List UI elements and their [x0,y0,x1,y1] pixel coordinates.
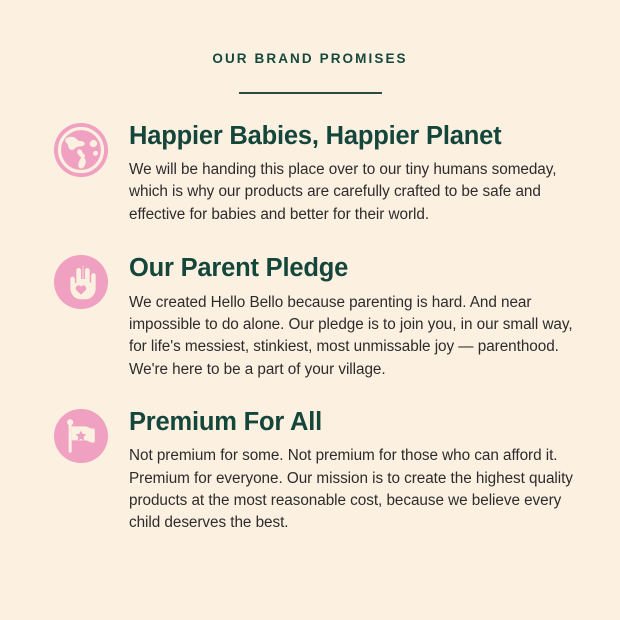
promise-text: We created Hello Bello because parenting… [129,292,584,381]
promise-text: We will be handing this place over to ou… [129,159,584,226]
promise-body: Happier Babies, Happier Planet We will b… [129,121,584,227]
globe-icon [54,123,108,177]
page-header: OUR BRAND PROMISES [0,0,620,94]
page-title: OUR BRAND PROMISES [0,52,620,66]
promise-text: Not premium for some. Not premium for th… [129,445,584,534]
promise-body: Our Parent Pledge We created Hello Bello… [129,253,584,381]
promise-title: Our Parent Pledge [129,254,584,283]
hand-heart-icon [54,255,108,309]
list-item: Happier Babies, Happier Planet We will b… [54,121,584,227]
promise-title: Happier Babies, Happier Planet [129,122,584,151]
brand-promises-page: OUR BRAND PROMISES [0,0,620,620]
title-divider [239,92,382,94]
promise-list: Happier Babies, Happier Planet We will b… [0,121,620,535]
list-item: Our Parent Pledge We created Hello Bello… [54,253,584,381]
flag-star-icon [54,409,108,463]
title-divider-wrap [0,92,620,94]
promise-title: Premium For All [129,408,584,437]
list-item: Premium For All Not premium for some. No… [54,407,584,535]
promise-body: Premium For All Not premium for some. No… [129,407,584,535]
